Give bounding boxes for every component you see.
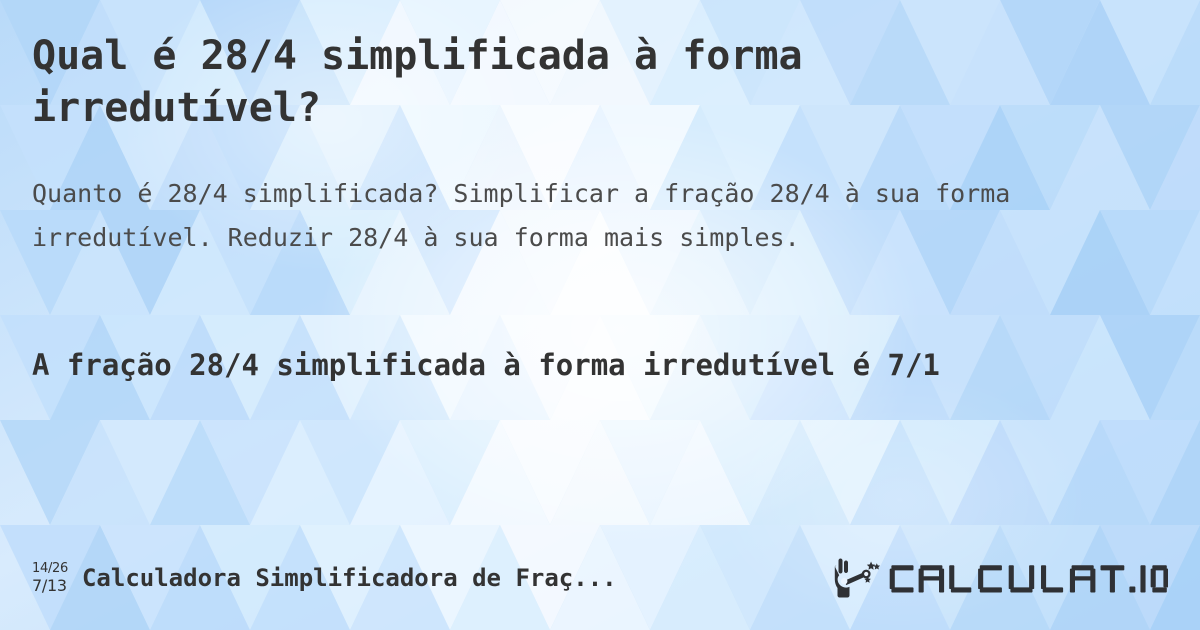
magic-wand-hand-icon	[834, 558, 886, 598]
page-description: Quanto é 28/4 simplificada? Simplificar …	[32, 172, 1162, 260]
fraction-icon: 14/26 7/13	[32, 562, 68, 594]
page-title: Qual é 28/4 simplificada à forma irredut…	[32, 30, 1042, 134]
calculatio-wordmark	[888, 561, 1169, 595]
footer-left-group: 14/26 7/13 Calculadora Simplificadora de…	[32, 562, 810, 594]
brand-logo[interactable]	[834, 558, 1169, 598]
site-name-label: Calculadora Simplificadora de Fraç...	[82, 564, 617, 592]
fraction-icon-top-label: 14/26	[32, 562, 68, 575]
answer-statement: A fração 28/4 simplificada à forma irred…	[32, 342, 1162, 388]
footer-bar: 14/26 7/13 Calculadora Simplificadora de…	[0, 552, 1200, 604]
og-image-card: Qual é 28/4 simplificada à forma irredut…	[0, 0, 1200, 630]
fraction-icon-bottom-label: 7/13	[32, 578, 67, 594]
card-content: Qual é 28/4 simplificada à forma irredut…	[0, 0, 1200, 630]
